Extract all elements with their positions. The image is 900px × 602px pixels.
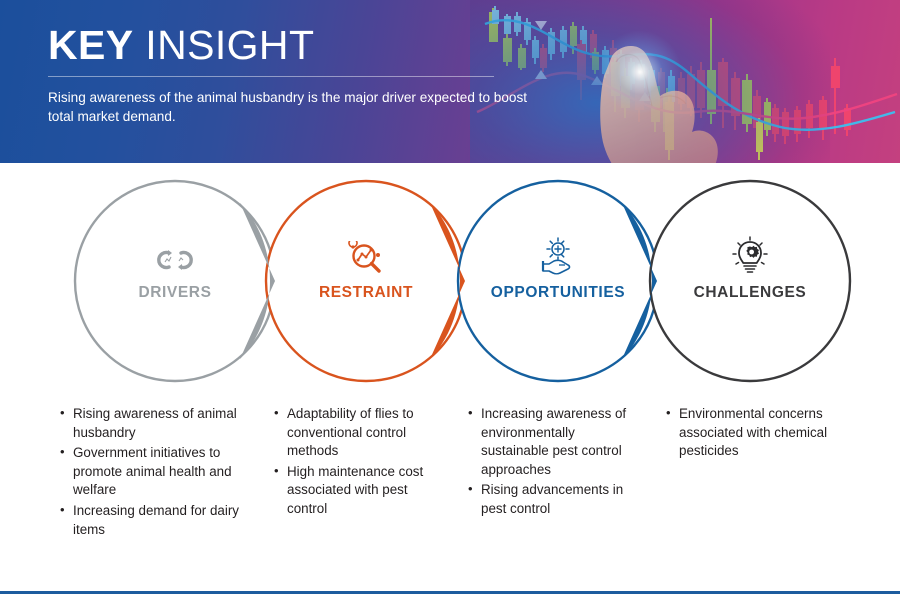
- list-item: High maintenance cost associated with pe…: [272, 463, 447, 519]
- list-item: Increasing awareness of environmentally …: [466, 405, 644, 479]
- footer-divider: [0, 591, 900, 594]
- page-title: KEY INSIGHT: [48, 22, 548, 68]
- bullet-list-drivers: Rising awareness of animal husbandry Gov…: [58, 405, 248, 539]
- column-opportunities: Increasing awareness of environmentally …: [466, 405, 644, 521]
- bullet-list-restraint: Adaptability of flies to conventional co…: [272, 405, 447, 519]
- title-key: KEY: [48, 22, 134, 68]
- node-label-challenges: CHALLENGES: [650, 284, 850, 302]
- bullet-list-opportunities: Increasing awareness of environmentally …: [466, 405, 644, 519]
- hand-holding-sun-idea-icon: [458, 231, 658, 275]
- node-restraint[interactable]: RESTRAINT: [266, 231, 466, 302]
- title-insight: INSIGHT: [134, 22, 315, 68]
- magnifier-chart-icon: [266, 231, 466, 275]
- lightbulb-gear-icon: [650, 231, 850, 275]
- list-item: Rising advancements in pest control: [466, 481, 644, 518]
- node-drivers[interactable]: DRIVERS: [75, 231, 275, 302]
- bullet-columns: Rising awareness of animal husbandry Gov…: [0, 405, 900, 555]
- title-divider: [48, 76, 494, 77]
- header-text-block: KEY INSIGHT Rising awareness of the anim…: [48, 22, 548, 126]
- column-drivers: Rising awareness of animal husbandry Gov…: [58, 405, 248, 541]
- column-challenges: Environmental concerns associated with c…: [664, 405, 839, 463]
- list-item: Adaptability of flies to conventional co…: [272, 405, 447, 461]
- list-item: Government initiatives to promote animal…: [58, 444, 248, 500]
- bullet-list-challenges: Environmental concerns associated with c…: [664, 405, 839, 461]
- header-subtitle: Rising awareness of the animal husbandry…: [48, 88, 528, 126]
- node-label-restraint: RESTRAINT: [266, 284, 466, 302]
- node-label-opportunities: OPPORTUNITIES: [458, 284, 658, 302]
- list-item: Increasing demand for dairy items: [58, 502, 248, 539]
- growth-cycle-arrows-icon: [75, 231, 275, 275]
- node-label-drivers: DRIVERS: [75, 284, 275, 302]
- list-item: Rising awareness of animal husbandry: [58, 405, 248, 442]
- process-circles-stage: DRIVERS RESTRAIN: [0, 163, 900, 403]
- node-challenges[interactable]: CHALLENGES: [650, 231, 850, 302]
- header-banner: KEY INSIGHT Rising awareness of the anim…: [0, 0, 900, 163]
- list-item: Environmental concerns associated with c…: [664, 405, 839, 461]
- column-restraint: Adaptability of flies to conventional co…: [272, 405, 447, 521]
- node-opportunities[interactable]: OPPORTUNITIES: [458, 231, 658, 302]
